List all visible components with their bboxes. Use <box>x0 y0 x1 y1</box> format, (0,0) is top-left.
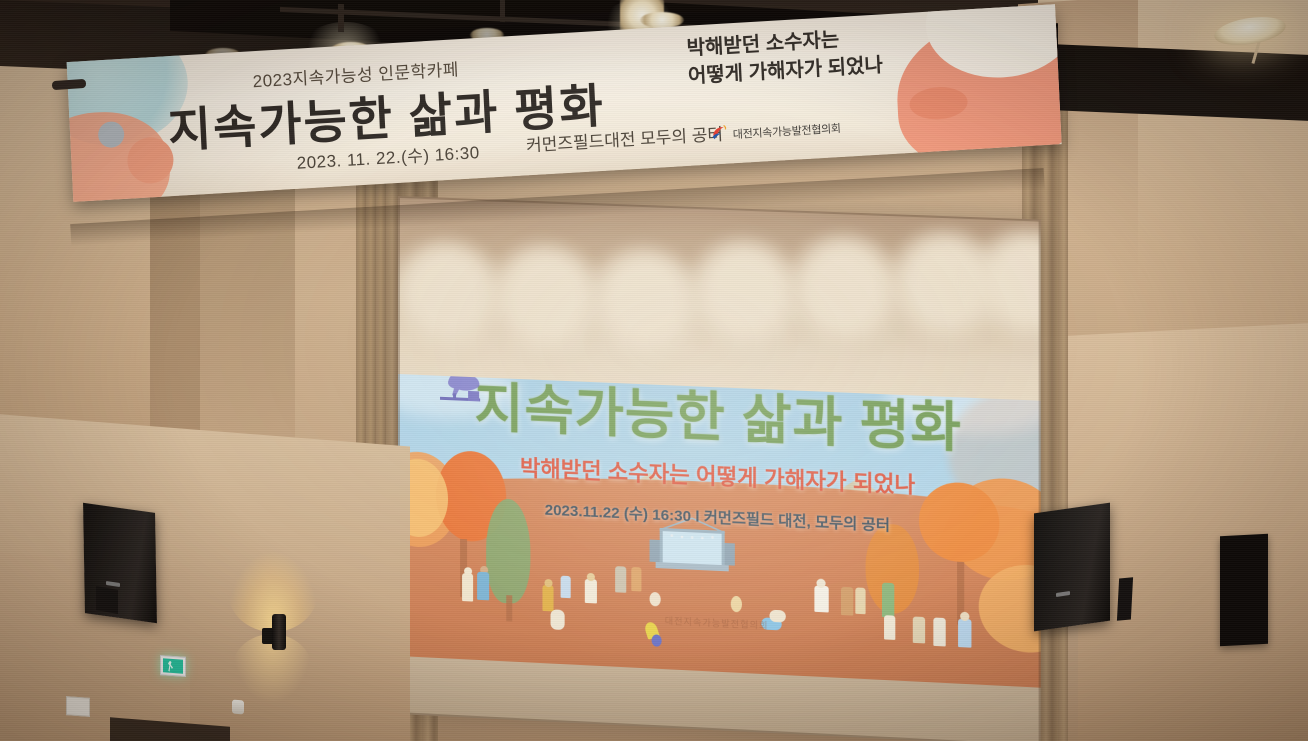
crowd-person <box>731 596 742 613</box>
crowd-person <box>933 617 945 646</box>
crowd-person <box>587 573 595 581</box>
organizer-name: 대전지속가능발전협의회 <box>732 119 841 141</box>
speaker-right-bracket <box>1117 577 1133 620</box>
crowd-person <box>585 579 597 604</box>
crowd-person <box>462 573 473 602</box>
banner-organizer: 대전지속가능발전협의회 <box>710 117 841 146</box>
crowd-person <box>855 587 865 614</box>
photo-scene: 2023지속가능성 인문학카페 지속가능한 삶과 평화 박해받던 소수자는 어떻… <box>0 0 1308 741</box>
speaker-left-bracket <box>96 586 118 614</box>
crowd-person-sitting <box>769 610 785 623</box>
slide-content: 2023지속가능성 인문학카페 지속가능한 삶과 평화 박해받던 소수자는 어떻… <box>398 346 1041 688</box>
crowd-person <box>816 579 825 589</box>
kite-shape <box>652 634 662 647</box>
crowd-person <box>958 619 971 648</box>
emergency-exit-sign <box>160 655 186 677</box>
crowd-person <box>615 566 626 593</box>
crowd-person <box>913 616 925 643</box>
running-man-icon <box>168 661 173 672</box>
crowd-person <box>882 583 894 618</box>
crowd-person <box>561 576 571 599</box>
wall-outlet <box>66 696 90 717</box>
crowd-person <box>960 612 969 622</box>
lighting-truss-hanger <box>500 0 505 22</box>
organizer-logo-icon <box>710 124 728 146</box>
crowd-person <box>884 615 895 640</box>
crowd-dog <box>551 609 565 630</box>
tree-trunk <box>506 595 512 621</box>
speaker-left <box>83 503 157 623</box>
lighting-truss-hanger <box>338 4 344 32</box>
crowd-person <box>631 567 641 592</box>
crowd-person <box>814 586 828 613</box>
crowd-person <box>477 572 489 601</box>
wall-recess-dark <box>1220 534 1268 647</box>
crowd-person <box>841 587 853 616</box>
wall-sensor <box>232 700 244 715</box>
wall-sconce <box>272 614 286 650</box>
crowd-person <box>544 579 552 587</box>
crowd-person <box>542 585 553 612</box>
projection-screen: 2023지속가능성 인문학카페 지속가능한 삶과 평화 박해받던 소수자는 어떻… <box>398 196 1041 741</box>
crowd-person <box>650 592 661 607</box>
speaker-right <box>1034 503 1110 632</box>
